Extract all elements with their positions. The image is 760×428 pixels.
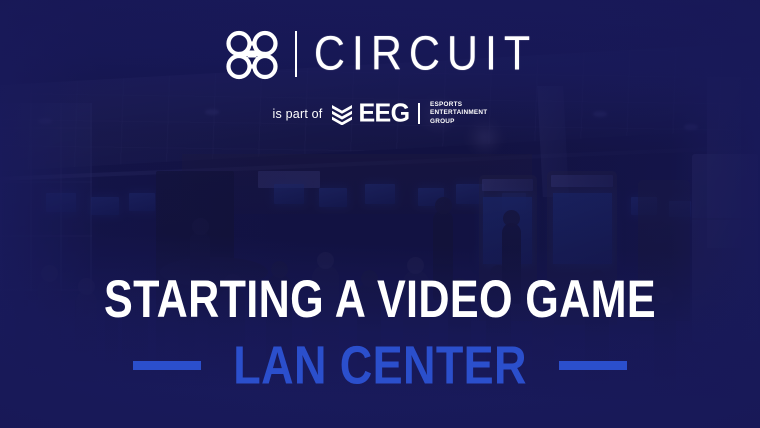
parent-company-lockup: is part of EEG ESPORTS ENTERTAINMENT GRO… (0, 101, 760, 126)
promo-banner: CIRCUIT is part of EEG ESPORTS ENTERTAIN… (0, 0, 760, 428)
eeg-full-name-line2: ENTERTAINMENT (430, 109, 487, 117)
rule-right (559, 361, 627, 370)
eeg-full-name-line3: GROUP (430, 118, 487, 126)
eeg-divider (418, 103, 420, 124)
eeg-logo-lockup: EEG ESPORTS ENTERTAINMENT GROUP (331, 101, 487, 126)
brand-lockup: CIRCUIT (0, 28, 760, 80)
eeg-abbreviation: EEG (358, 101, 409, 127)
eeg-full-name: ESPORTS ENTERTAINMENT GROUP (430, 101, 487, 126)
rule-left (133, 361, 201, 370)
headline-line-2: LAN CENTER (233, 338, 527, 392)
brand-divider (295, 31, 297, 77)
headline-line-1: STARTING A VIDEO GAME (46, 274, 715, 327)
gg-logo-icon (223, 28, 281, 80)
circuit-wordmark: CIRCUIT (314, 30, 537, 78)
eeg-chevrons-icon (331, 103, 353, 125)
is-part-of-label: is part of (273, 107, 323, 121)
banner-content: CIRCUIT is part of EEG ESPORTS ENTERTAIN… (0, 0, 760, 428)
eeg-full-name-line1: ESPORTS (430, 101, 487, 109)
headline-line-2-row: LAN CENTER (0, 340, 760, 390)
